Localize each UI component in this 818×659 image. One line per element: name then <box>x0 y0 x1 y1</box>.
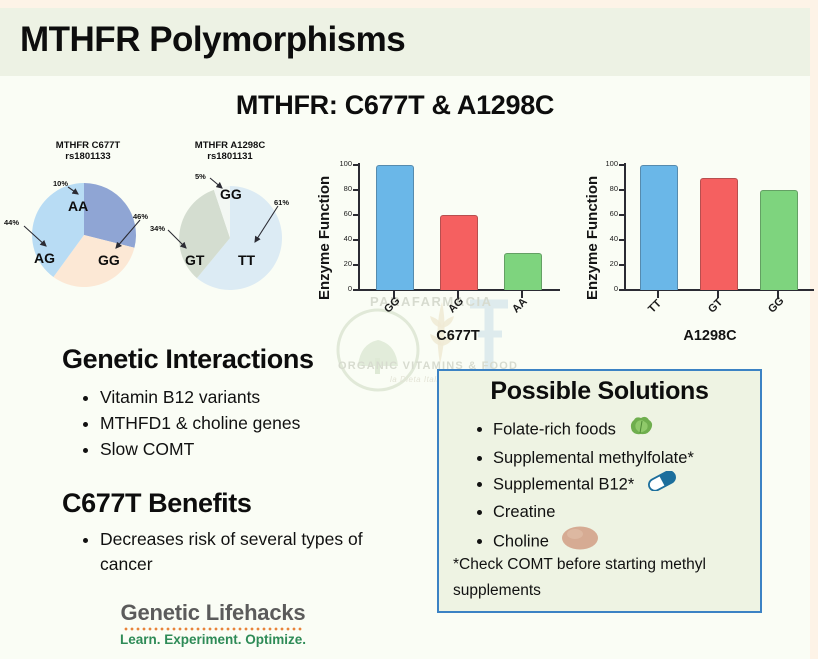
bar-gg <box>376 165 414 290</box>
y-tick-label-40-2: 40 <box>596 234 618 243</box>
leafy-green-icon <box>626 415 656 445</box>
list-item: Slow COMT <box>100 437 300 462</box>
bar-chart-a1298c-caption: A1298C <box>610 328 810 344</box>
solution-label-choline: Choline <box>493 532 549 550</box>
pie-chart-a1298c: MTHFR A1298C rs1801131 GT TT GG 34% 5% 6… <box>160 140 300 305</box>
y-tick-mark-60 <box>353 214 358 216</box>
y-tick-mark-0 <box>353 289 358 291</box>
genetic-interactions-heading: Genetic Interactions <box>62 344 314 375</box>
y-tick-mark-20 <box>353 264 358 266</box>
list-item: Vitamin B12 variants <box>100 385 300 410</box>
list-item: MTHFD1 & choline genes <box>100 411 300 436</box>
pie-callout-arrows-1 <box>18 170 158 300</box>
brand-divider-dots <box>123 627 303 631</box>
solution-label-folate: Folate-rich foods <box>493 420 616 438</box>
y-tick-label-100: 100 <box>330 159 352 168</box>
pie-chart-c677t: MTHFR C677T rs1801133 AG GG AA 44% 10% 4… <box>18 140 158 305</box>
bar-ag <box>440 215 478 290</box>
capsule-pill-icon <box>645 471 679 499</box>
y-tick-label-80: 80 <box>330 184 352 193</box>
pie-chart-a1298c-subtitle: rs1801131 <box>160 151 300 162</box>
y-tick-label-20: 20 <box>330 259 352 268</box>
y-tick-mark-20-2 <box>619 264 624 266</box>
pie-pct-ag: 44% <box>4 218 19 227</box>
y-tick-mark-80 <box>353 189 358 191</box>
infographic-slide: MTHFR Polymorphisms MTHFR: C677T & A1298… <box>0 0 818 659</box>
bar-tt <box>640 165 678 290</box>
y-tick-label-60: 60 <box>330 209 352 218</box>
list-item-b12: Supplemental B12* <box>493 471 694 499</box>
pie-chart-c677t-canvas: AG GG AA 44% 10% 46% <box>18 170 158 305</box>
brand-tagline: Learn. Experiment. Optimize. <box>108 632 318 647</box>
bar-gt <box>700 178 738 290</box>
brand-logo: Genetic Lifehacks Learn. Experiment. Opt… <box>108 600 318 647</box>
possible-solutions-box: Possible Solutions Folate-rich foods Sup… <box>437 369 762 613</box>
pie-chart-a1298c-canvas: GT TT GG 34% 5% 61% <box>160 170 300 305</box>
bar-chart-c677t-plot: 100 80 60 40 20 0 GG AG AA <box>318 155 548 305</box>
y-axis-line-2 <box>624 163 626 291</box>
c677t-benefits-list: Decreases risk of several types of cance… <box>72 527 390 578</box>
bar-aa <box>504 253 542 290</box>
y-tick-mark-40-2 <box>619 239 624 241</box>
page-title: MTHFR Polymorphisms <box>20 20 405 60</box>
pie-chart-c677t-title: MTHFR C677T <box>18 140 158 151</box>
y-tick-mark-100-2 <box>619 164 624 166</box>
y-tick-label-60-2: 60 <box>596 209 618 218</box>
y-tick-mark-60-2 <box>619 214 624 216</box>
possible-solutions-note: *Check COMT before starting methyl suppl… <box>453 552 753 604</box>
x-tick-mark-tt <box>657 291 659 298</box>
solution-label-b12: Supplemental B12* <box>493 475 634 493</box>
c677t-benefits-heading: C677T Benefits <box>62 488 251 519</box>
possible-solutions-list: Folate-rich foods Supplemental methylfol… <box>469 415 694 559</box>
y-tick-mark-40 <box>353 239 358 241</box>
y-tick-label-80-2: 80 <box>596 184 618 193</box>
pie-chart-a1298c-title: MTHFR A1298C <box>160 140 300 151</box>
list-item: Decreases risk of several types of cance… <box>100 527 390 577</box>
y-tick-mark-80-2 <box>619 189 624 191</box>
y-tick-mark-100 <box>353 164 358 166</box>
y-tick-label-0: 0 <box>330 284 352 293</box>
list-item-creatine: Creatine <box>493 499 694 525</box>
list-item-folate: Folate-rich foods <box>493 415 694 445</box>
y-tick-label-0-2: 0 <box>596 284 618 293</box>
list-item-methylfolate: Supplemental methylfolate* <box>493 445 694 471</box>
y-tick-mark-0-2 <box>619 289 624 291</box>
bar-chart-c677t-caption: C677T <box>358 328 558 344</box>
page-subtitle: MTHFR: C677T & A1298C <box>0 90 790 121</box>
y-tick-label-20-2: 20 <box>596 259 618 268</box>
possible-solutions-heading: Possible Solutions <box>439 377 760 406</box>
y-tick-label-40: 40 <box>330 234 352 243</box>
y-tick-label-100-2: 100 <box>596 159 618 168</box>
bar-gg-2 <box>760 190 798 290</box>
pie-chart-c677t-subtitle: rs1801133 <box>18 151 158 162</box>
brand-name: Genetic Lifehacks <box>108 600 318 626</box>
pie-callout-arrows-2 <box>160 170 300 300</box>
genetic-interactions-list: Vitamin B12 variants MTHFD1 & choline ge… <box>72 385 300 463</box>
y-axis-line <box>358 163 360 291</box>
bar-chart-a1298c-plot: 100 80 60 40 20 0 TT GT GG <box>584 155 806 305</box>
